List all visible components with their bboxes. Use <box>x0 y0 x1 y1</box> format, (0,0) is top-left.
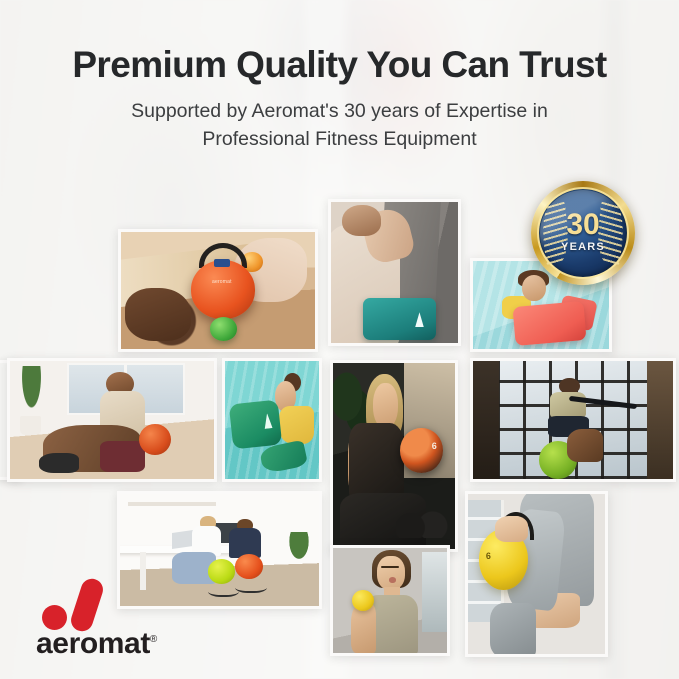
logo-wordmark: aeromat® <box>36 627 157 661</box>
person-head <box>342 205 380 236</box>
medicine-ball: 6 <box>400 428 443 473</box>
photo-tile-squat-medicine-ball: 6 <box>330 360 458 552</box>
swimmer-body <box>279 406 315 444</box>
green-kickboard <box>228 400 281 450</box>
person-face <box>373 383 397 428</box>
header-block: Premium Quality You Can Trust Supported … <box>0 44 679 154</box>
logo-wordmark-text: aeromat <box>36 627 150 660</box>
photo-tile-seated-twist-medicine-ball <box>7 358 217 482</box>
left-wall-beam <box>473 361 499 479</box>
person-brow <box>381 566 399 568</box>
wall-shelf <box>128 502 216 506</box>
coral-kickboard <box>512 301 586 346</box>
window <box>422 552 447 632</box>
green-ball-chair <box>208 559 236 584</box>
promo-banner: Premium Quality You Can Trust Supported … <box>0 0 679 679</box>
aeromat-logo: aeromat® <box>36 575 186 661</box>
kettlebell-row <box>396 501 450 538</box>
right-wall-beam <box>647 361 673 479</box>
hand-on-board <box>125 288 191 341</box>
medicine-ball-weight-label: 6 <box>432 441 437 451</box>
person-figure <box>545 378 597 461</box>
photo-tile-stability-ball-resistance-band <box>470 358 676 482</box>
chair-base-two <box>235 579 267 592</box>
photo-tile-kettlebell-ball-on-wood: aeromat <box>118 229 318 352</box>
person-lips <box>389 577 396 582</box>
kettlebell-weight-label: 6 <box>486 551 491 561</box>
person-shorts <box>100 441 145 472</box>
logo-bar-icon <box>68 576 106 634</box>
person-sports-top <box>550 392 585 418</box>
person-leg <box>490 603 537 657</box>
worker-two-hoodie <box>229 528 261 558</box>
photo-tile-foam-roller-stretch <box>328 199 461 346</box>
teal-foam-roller <box>363 298 437 340</box>
page-subtitle: Supported by Aeromat's 30 years of Exper… <box>0 98 679 153</box>
person-leg <box>567 429 603 462</box>
kettlebell-tab <box>214 259 230 267</box>
photo-tile-yellow-kettlebell-lift: 6 <box>465 491 608 657</box>
badge-number: 30 <box>531 210 635 240</box>
orange-ball-chair <box>235 554 263 579</box>
yellow-massage-ball <box>352 590 374 611</box>
photo-tile-pool-green-kickboard <box>222 358 322 482</box>
anniversary-badge: 30 YEARS <box>531 181 635 285</box>
page-title: Premium Quality You Can Trust <box>0 44 679 85</box>
subtitle-line-2: Professional Fitness Equipment <box>0 126 679 154</box>
gripping-hands <box>495 516 528 542</box>
badge-label: YEARS <box>531 241 635 253</box>
green-massage-egg <box>210 317 237 340</box>
logo-trademark-symbol: ® <box>150 634 157 645</box>
black-socks <box>39 453 80 473</box>
ball-brand-text: aeromat <box>199 279 246 285</box>
person-face <box>377 556 404 590</box>
photo-tile-yellow-massage-ball <box>330 545 450 656</box>
plant-pot <box>20 416 40 435</box>
orange-kettlebell-ball <box>139 424 172 456</box>
subtitle-line-1: Supported by Aeromat's 30 years of Exper… <box>131 100 548 122</box>
aeromat-logo-mark <box>263 413 272 429</box>
orange-kettlebell-ball <box>191 260 255 319</box>
worker-one-shirt <box>192 526 222 555</box>
person-sports-bra <box>349 423 404 505</box>
office-plant <box>287 532 311 563</box>
